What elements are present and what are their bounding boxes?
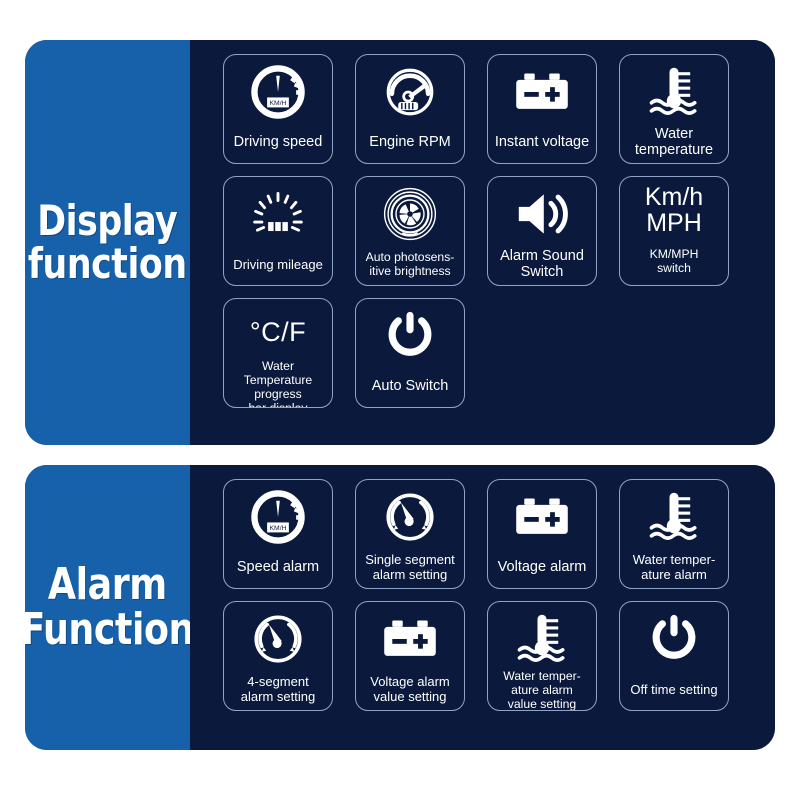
feature-tile-label: Water temper- ature alarm value setting [500, 670, 583, 711]
kmh-mph-text-icon: Km/h MPH [620, 183, 728, 237]
feature-tile: Off time setting [619, 601, 729, 711]
display-feature-grid: KM/H Driving speed Engine RPM Instant vo… [223, 54, 775, 408]
feature-tile: Water temperature [619, 54, 729, 164]
panel-alarm-function: Alarm Function KM/H Speed alarm Single s… [25, 465, 775, 750]
feature-tile-label: Alarm Sound Switch [497, 245, 587, 285]
panel-display-function: Display function KM/H Driving speed Engi [25, 40, 775, 445]
feature-tile: Single segment alarm setting [355, 479, 465, 589]
infographic: Display function KM/H Driving speed Engi [0, 0, 800, 800]
odometer-icon [224, 183, 332, 245]
feature-tile: Water temper- ature alarm value setting [487, 601, 597, 711]
feature-tile: KM/H Driving speed [223, 54, 333, 164]
speaker-icon [488, 183, 596, 245]
feature-tile: Voltage alarm [487, 479, 597, 589]
feature-tile-label: Speed alarm [234, 548, 322, 588]
panel-alarm-title: Alarm Function [25, 563, 194, 653]
water-temperature-icon [488, 608, 596, 670]
feature-tile: KM/H Speed alarm [223, 479, 333, 589]
alarm-feature-grid: KM/H Speed alarm Single segment alarm se… [223, 479, 775, 711]
gauge-needle-icon [224, 608, 332, 670]
panel-display-heading: Display function [25, 40, 190, 445]
svg-text:KM/H: KM/H [270, 100, 287, 107]
feature-tile-label: Instant voltage [492, 123, 592, 163]
tachometer-icon [356, 61, 464, 123]
water-temperature-icon [620, 61, 728, 123]
battery-icon [488, 61, 596, 123]
feature-tile-label: Auto Switch [369, 367, 452, 407]
feature-tile: Engine RPM [355, 54, 465, 164]
panel-alarm-heading: Alarm Function [25, 465, 190, 750]
feature-tile: Auto Switch [355, 298, 465, 408]
feature-tile-label: Auto photosens- itive brightness [363, 245, 458, 285]
feature-tile: Auto photosens- itive brightness [355, 176, 465, 286]
feature-tile-label: KM/MPH switch [647, 237, 702, 285]
power-icon [356, 305, 464, 367]
panel-display-title: Display function [28, 200, 187, 286]
feature-tile-label: Water temper- ature alarm [630, 548, 719, 588]
feature-tile-label: Water temperature [632, 123, 716, 163]
svg-text:KM/H: KM/H [270, 525, 287, 532]
kmh-mph-text-icon-text: Km/h MPH [645, 184, 703, 237]
gauge-needle-icon [356, 486, 464, 548]
feature-tile: °C/FWater Temperature progress bar displ… [223, 298, 333, 408]
feature-tile: Instant voltage [487, 54, 597, 164]
feature-tile: Water temper- ature alarm [619, 479, 729, 589]
feature-tile-label: Driving speed [231, 123, 326, 163]
battery-icon [356, 608, 464, 670]
water-temperature-icon [620, 486, 728, 548]
speedometer-icon: KM/H [224, 486, 332, 548]
feature-tile-label: Voltage alarm value setting [367, 670, 453, 710]
feature-tile-label: Water Temperature progress bar display [241, 359, 315, 408]
speedometer-icon: KM/H [224, 61, 332, 123]
feature-tile-label: Single segment alarm setting [362, 548, 458, 588]
aperture-icon [356, 183, 464, 245]
feature-tile-label: Engine RPM [366, 123, 453, 163]
feature-tile: Alarm Sound Switch [487, 176, 597, 286]
feature-tile-label: Voltage alarm [495, 548, 590, 588]
panel-alarm-body: KM/H Speed alarm Single segment alarm se… [190, 465, 775, 750]
feature-tile-label: Driving mileage [230, 245, 326, 285]
power-icon [620, 608, 728, 670]
feature-tile: Km/h MPHKM/MPH switch [619, 176, 729, 286]
battery-icon [488, 486, 596, 548]
celsius-fahrenheit-text-icon-text: °C/F [250, 318, 306, 346]
panel-display-body: KM/H Driving speed Engine RPM Instant vo… [190, 40, 775, 445]
feature-tile: 4-segment alarm setting [223, 601, 333, 711]
feature-tile-label: 4-segment alarm setting [238, 670, 318, 710]
feature-tile: Voltage alarm value setting [355, 601, 465, 711]
feature-tile: Driving mileage [223, 176, 333, 286]
celsius-fahrenheit-text-icon: °C/F [224, 305, 332, 359]
feature-tile-label: Off time setting [627, 670, 720, 710]
